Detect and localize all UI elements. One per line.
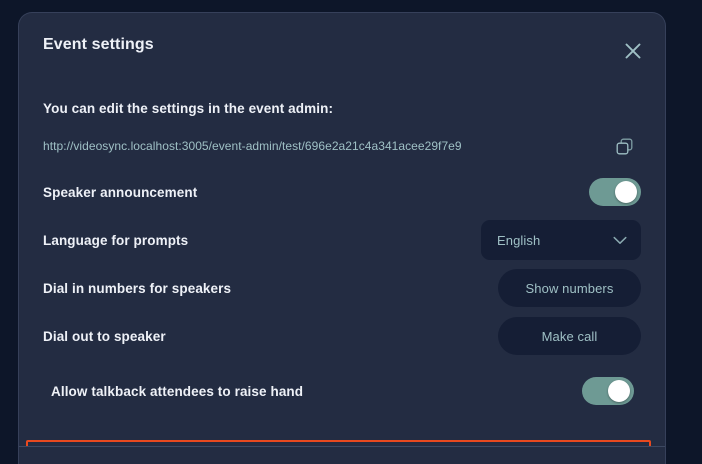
close-x-icon [622, 40, 644, 62]
setting-row-speaker-announcement: Speaker announcement [43, 168, 641, 216]
setting-label: Language for prompts [43, 233, 188, 248]
setting-row-raise-hand: Allow talkback attendees to raise hand [43, 360, 641, 422]
show-numbers-button[interactable]: Show numbers [498, 269, 641, 307]
copy-url-button[interactable] [609, 131, 639, 161]
toggle-knob [608, 380, 630, 402]
modal-body: You can edit the settings in the event a… [19, 85, 665, 422]
admin-url-row: http://videosync.localhost:3005/event-ad… [43, 124, 641, 168]
screen-root: Event settings You can edit the settings… [0, 0, 702, 464]
setting-label: Speaker announcement [43, 185, 197, 200]
make-call-button[interactable]: Make call [498, 317, 641, 355]
setting-row-dial-in-numbers: Dial in numbers for speakers Show number… [43, 264, 641, 312]
setting-row-language-for-prompts: Language for prompts English [43, 216, 641, 264]
setting-label: Dial out to speaker [43, 329, 166, 344]
raise-hand-toggle[interactable] [582, 377, 634, 405]
admin-url-link[interactable]: http://videosync.localhost:3005/event-ad… [43, 139, 462, 153]
copy-icon [615, 137, 634, 156]
modal-header: Event settings [19, 13, 665, 85]
speaker-announcement-toggle[interactable] [589, 178, 641, 206]
language-select[interactable]: English [481, 220, 641, 260]
intro-text: You can edit the settings in the event a… [43, 85, 641, 116]
setting-label: Dial in numbers for speakers [43, 281, 231, 296]
event-settings-modal: Event settings You can edit the settings… [18, 12, 666, 464]
setting-row-dial-out-to-speaker: Dial out to speaker Make call [43, 312, 641, 360]
language-select-value: English [497, 233, 540, 248]
chevron-down-icon [613, 236, 627, 245]
modal-footer [19, 447, 665, 464]
page-title: Event settings [43, 36, 154, 54]
setting-label: Allow talkback attendees to raise hand [51, 384, 303, 399]
close-button[interactable] [617, 35, 649, 67]
toggle-knob [615, 181, 637, 203]
